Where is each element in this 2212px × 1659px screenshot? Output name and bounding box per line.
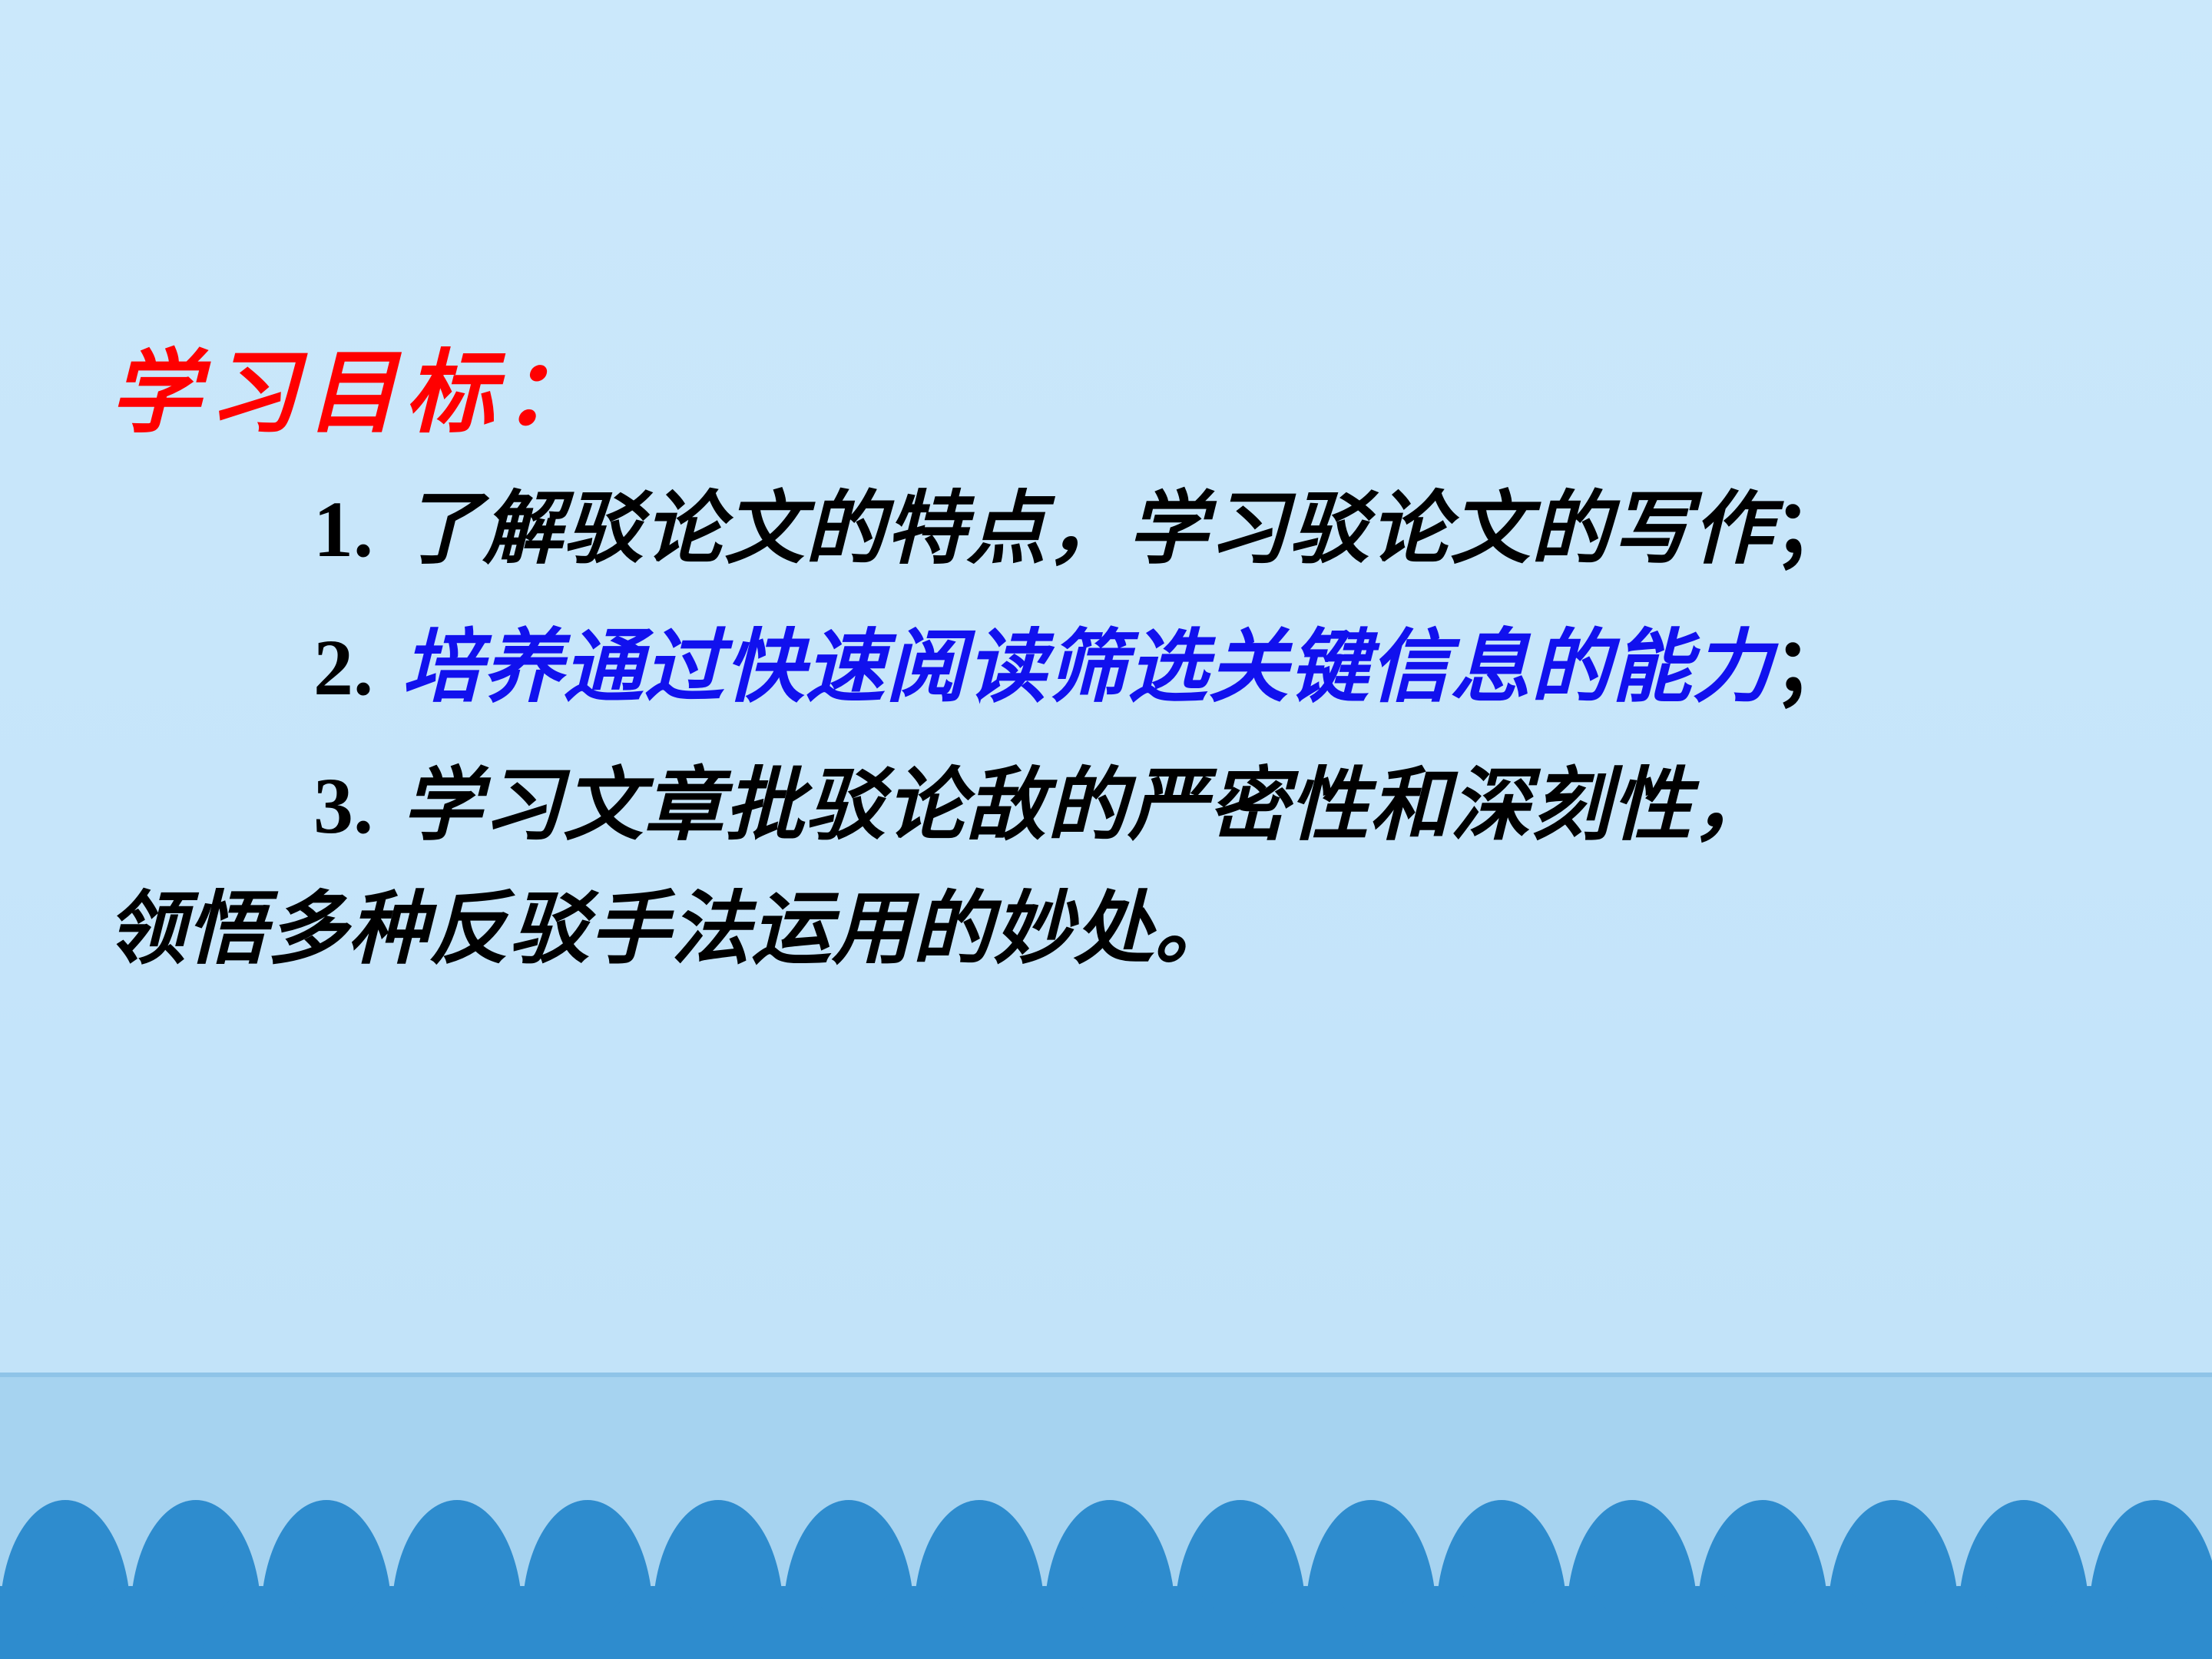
arch-shape	[1371, 1586, 1502, 1659]
goal-number-2: 2.	[313, 605, 373, 731]
footer-decoration-band	[0, 1373, 2212, 1659]
arch-shape	[2024, 1586, 2154, 1659]
arch-shape	[979, 1586, 1110, 1659]
page-title: 学习目标：	[110, 338, 2212, 447]
arch-shape	[457, 1586, 588, 1659]
goal-item-2: 2. 培养通过快速阅读筛选关键信息的能力；	[0, 604, 2212, 731]
goal-text-2: 培养通过快速阅读筛选关键信息的能力	[402, 619, 1773, 714]
arch-shape	[1893, 1586, 2024, 1659]
goal-item-1: 1. 了解驳论文的特点，学习驳论文的写作；	[0, 465, 2212, 593]
goal-number-1: 1.	[313, 467, 373, 593]
arch-row-lower	[0, 1586, 2212, 1659]
arch-shape	[2154, 1586, 2212, 1659]
arch-shape	[65, 1586, 196, 1659]
slide-content: 学习目标： 1. 了解驳论文的特点，学习驳论文的写作； 2. 培养通过快速阅读筛…	[0, 338, 2212, 976]
goal-terminator-2: ；	[1773, 624, 1853, 712]
arch-shape	[849, 1586, 979, 1659]
goal-continuation-line: 领悟多种反驳手法运用的妙处。	[106, 881, 2212, 977]
arch-shape	[1763, 1586, 1893, 1659]
arch-shape	[1240, 1586, 1371, 1659]
arch-shape	[1110, 1586, 1240, 1659]
slide-canvas: 学习目标： 1. 了解驳论文的特点，学习驳论文的写作； 2. 培养通过快速阅读筛…	[0, 0, 2212, 1659]
arch-shape	[0, 1586, 65, 1659]
band-divider-line	[0, 1373, 2212, 1377]
goal-text-1: 了解驳论文的特点，学习驳论文的写作	[402, 481, 1773, 575]
goal-item-3: 3. 学习文章批驳论敌的严密性和深刻性，	[0, 742, 2212, 869]
goal-number-3: 3.	[313, 743, 373, 869]
arch-shape	[326, 1586, 457, 1659]
arch-shape	[588, 1586, 718, 1659]
arch-shape	[1632, 1586, 1763, 1659]
arch-shape	[718, 1586, 849, 1659]
arch-shape	[196, 1586, 326, 1659]
arch-shape	[1502, 1586, 1632, 1659]
learning-goals-list: 1. 了解驳论文的特点，学习驳论文的写作； 2. 培养通过快速阅读筛选关键信息的…	[0, 465, 2212, 870]
goal-terminator-1: ；	[1773, 485, 1853, 574]
goal-text-3: 学习文章批驳论敌的严密性和深刻性，	[402, 757, 1773, 852]
